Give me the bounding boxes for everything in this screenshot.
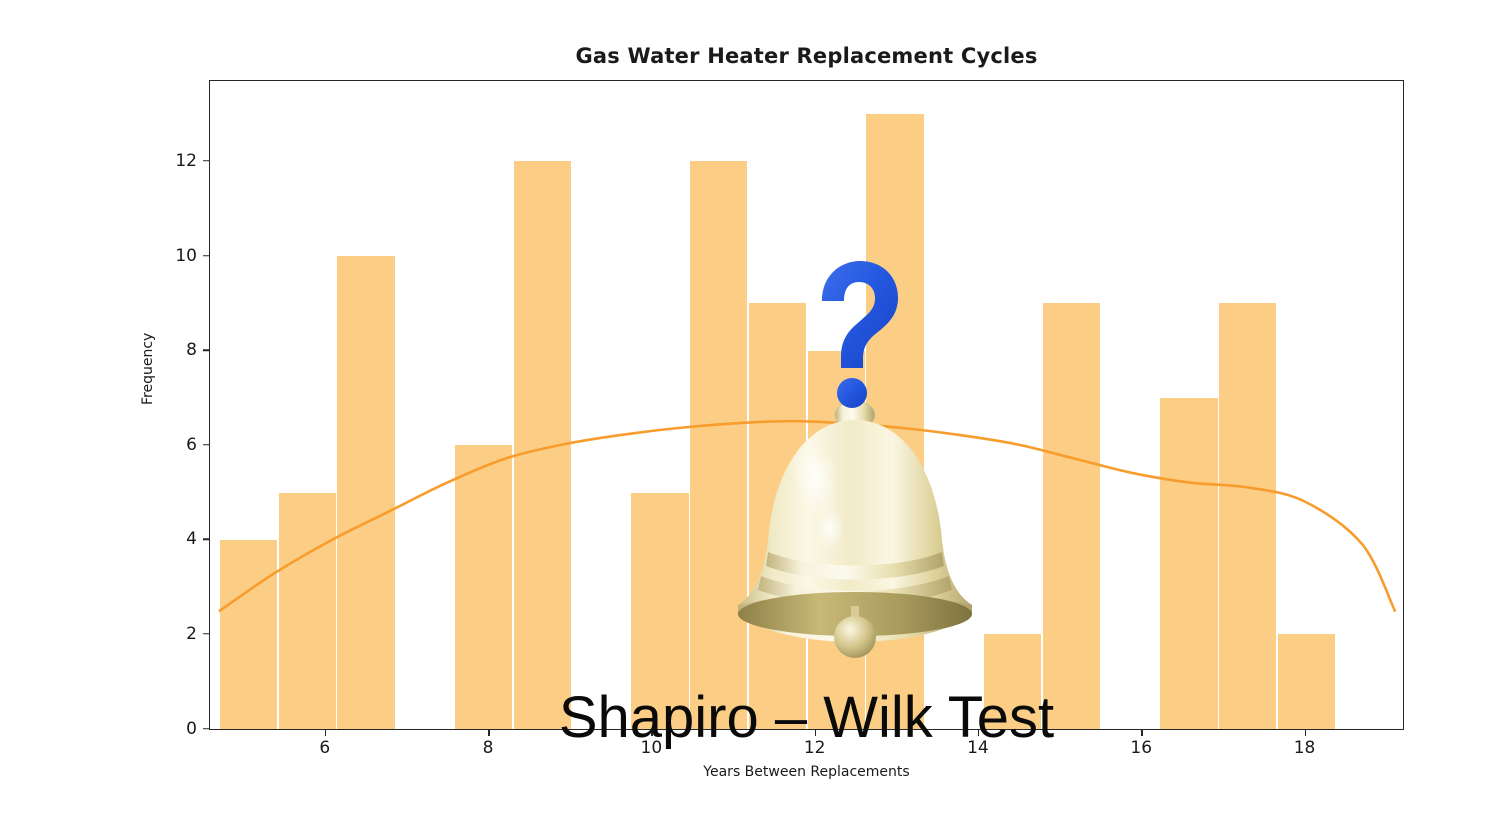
- y-tick-label: 2: [157, 624, 197, 644]
- chart-title: Gas Water Heater Replacement Cycles: [209, 44, 1404, 68]
- y-axis-label: Frequency: [140, 333, 156, 405]
- x-tick-label: 12: [785, 738, 845, 758]
- x-tick-label: 18: [1275, 738, 1335, 758]
- histogram-bar: [690, 161, 747, 729]
- x-tick-mark: [1141, 730, 1143, 736]
- y-tick-label: 10: [157, 246, 197, 266]
- x-tick-mark: [1305, 730, 1307, 736]
- histogram-bar: [866, 114, 923, 729]
- figure-canvas: Gas Water Heater Replacement Cycles Freq…: [0, 0, 1488, 835]
- histogram-bar: [808, 351, 865, 729]
- y-tick-label: 12: [157, 151, 197, 171]
- x-tick-mark: [815, 730, 817, 736]
- y-tick-label: 8: [157, 340, 197, 360]
- y-tick-label: 6: [157, 435, 197, 455]
- histogram-bar: [1278, 634, 1335, 729]
- histogram-bar: [220, 540, 277, 729]
- histogram-bar: [514, 161, 571, 729]
- x-tick-mark: [978, 730, 980, 736]
- x-tick-label: 16: [1111, 738, 1171, 758]
- histogram-bar: [631, 493, 688, 729]
- x-axis-label: Years Between Replacements: [209, 764, 1404, 780]
- y-tick-label: 4: [157, 529, 197, 549]
- x-tick-label: 6: [295, 738, 355, 758]
- histogram-bar: [279, 493, 336, 729]
- plot-area: [209, 80, 1404, 730]
- histogram-bar: [337, 256, 394, 729]
- x-tick-label: 8: [458, 738, 518, 758]
- x-tick-label: 14: [948, 738, 1008, 758]
- plot-inner: [210, 81, 1403, 729]
- x-tick-mark: [488, 730, 490, 736]
- x-tick-mark: [325, 730, 327, 736]
- histogram-bar: [1219, 303, 1276, 729]
- histogram-bar: [1043, 303, 1100, 729]
- histogram-bar: [749, 303, 806, 729]
- y-tick-label: 0: [157, 719, 197, 739]
- x-tick-mark: [651, 730, 653, 736]
- x-tick-label: 10: [621, 738, 681, 758]
- histogram-bar: [984, 634, 1041, 729]
- histogram-bar: [1160, 398, 1217, 729]
- histogram-bar: [455, 445, 512, 729]
